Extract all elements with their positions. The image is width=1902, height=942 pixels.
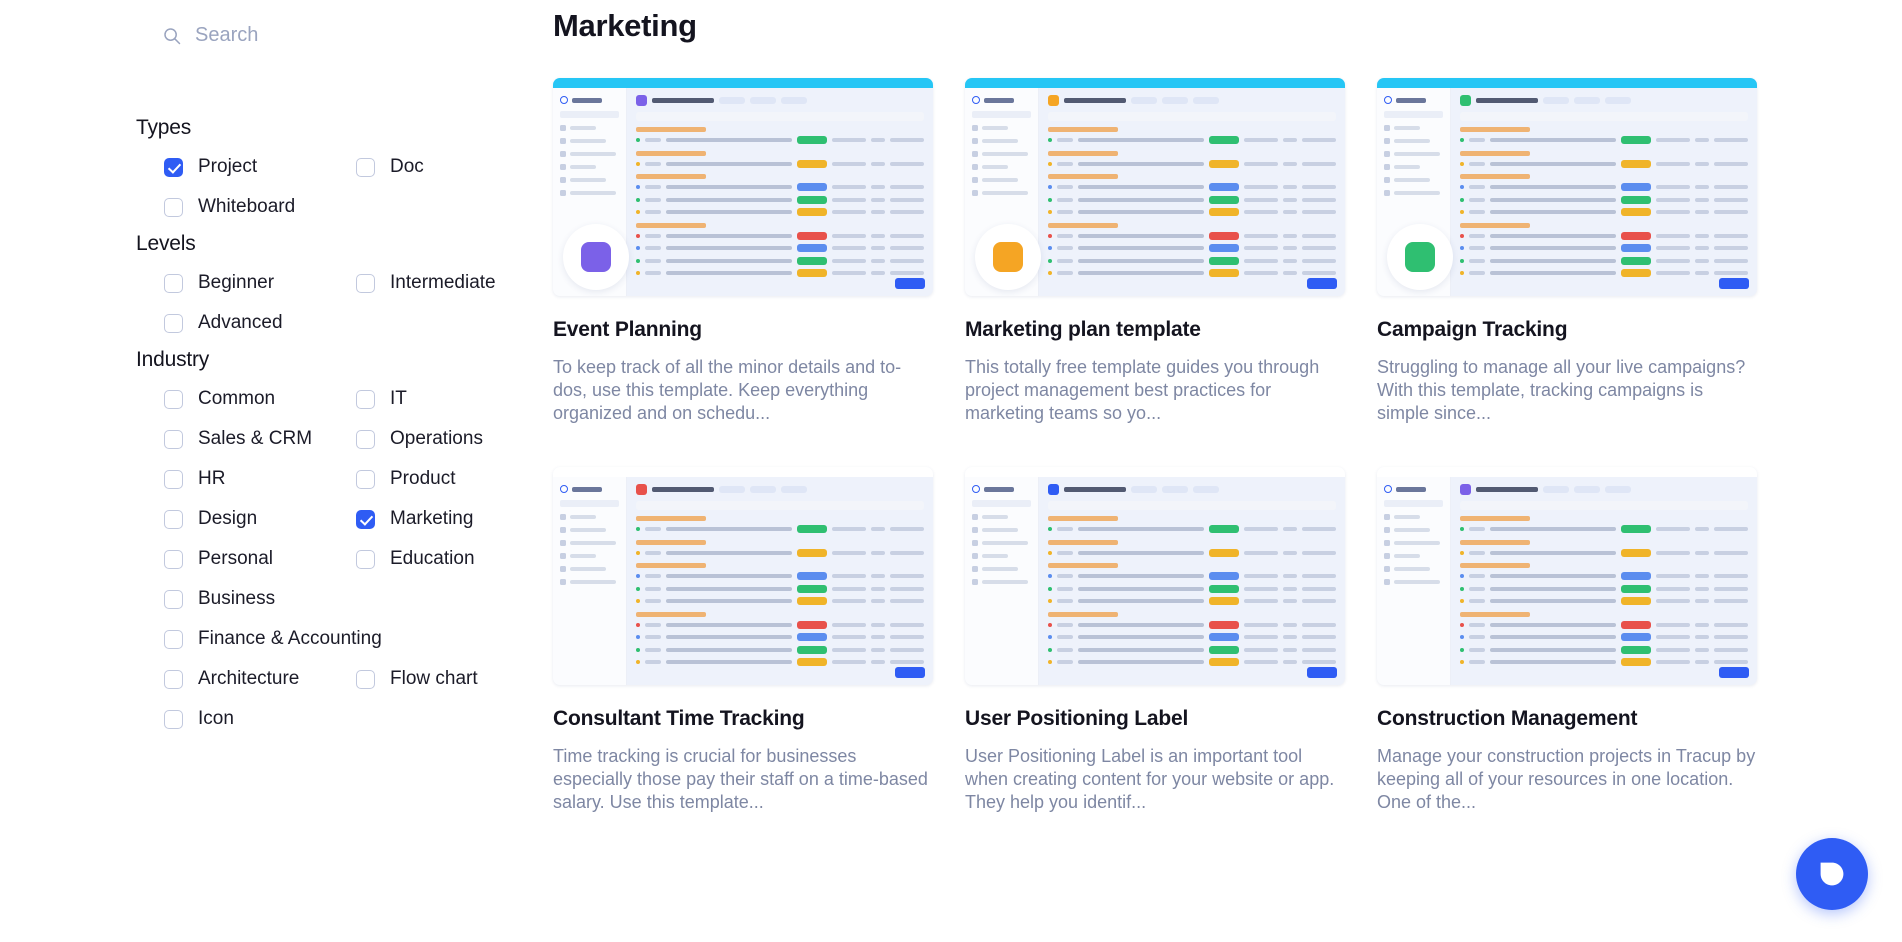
filter-option-label: Doc <box>390 156 424 178</box>
filter-option-personal[interactable]: Personal <box>164 548 356 570</box>
thumbnail-task-row <box>1048 645 1336 654</box>
search-bar[interactable] <box>163 24 455 47</box>
thumbnail-group-title <box>636 223 706 228</box>
thumbnail-app-logo <box>560 485 619 493</box>
thumbnail-task-group <box>636 174 924 217</box>
thumbnail-group-title <box>1460 612 1530 617</box>
thumbnail-task-row <box>1460 525 1748 534</box>
thumbnail-task-row <box>1460 548 1748 557</box>
thumbnail-app-logo <box>972 96 1031 104</box>
thumbnail-task-group <box>1460 516 1748 534</box>
thumbnail-task-row <box>1048 597 1336 606</box>
template-icon-glyph <box>1405 242 1435 272</box>
thumbnail-sidebar-item <box>560 579 619 585</box>
search-input[interactable] <box>195 24 455 47</box>
thumbnail-task-group <box>1460 563 1748 606</box>
filter-option-label: Architecture <box>198 668 299 690</box>
thumbnail-task-row <box>1460 584 1748 593</box>
card-thumbnail[interactable] <box>553 467 933 685</box>
thumbnail-sidebar-item <box>972 138 1031 144</box>
thumbnail-task-group <box>636 540 924 558</box>
thumbnail-group-title <box>1460 151 1530 156</box>
thumbnail-group-title <box>636 612 706 617</box>
checkbox-education[interactable] <box>356 550 375 569</box>
thumbnail-app-logo <box>560 96 619 104</box>
checkbox-design[interactable] <box>164 510 183 529</box>
thumbnail-sidebar-search <box>560 500 619 507</box>
thumbnail-task-group <box>1048 127 1336 145</box>
thumbnail-board-header <box>636 95 924 106</box>
thumbnail-sidebar-item <box>1384 190 1443 196</box>
thumbnail-app-body <box>553 477 933 685</box>
thumbnail-task-group <box>636 563 924 606</box>
thumbnail-sidebar-item <box>972 579 1031 585</box>
thumbnail-toolbar <box>1460 501 1748 510</box>
thumbnail-group-title <box>636 540 706 545</box>
checkbox-intermediate[interactable] <box>356 274 375 293</box>
thumbnail-primary-button <box>1307 278 1337 289</box>
thumbnail-sidebar-search <box>1384 111 1443 118</box>
thumbnail-group-title <box>1460 127 1530 132</box>
thumbnail-group-title <box>1048 563 1118 568</box>
thumbnail-task-row <box>1048 584 1336 593</box>
checkbox-hr[interactable] <box>164 470 183 489</box>
thumbnail-sidebar-item <box>1384 177 1443 183</box>
thumbnail-titlebar <box>1377 78 1757 88</box>
chat-support-button[interactable] <box>1796 838 1868 910</box>
thumbnail-task-row <box>1460 597 1748 606</box>
thumbnail-task-row <box>1460 183 1748 192</box>
card-description: This totally free template guides you th… <box>965 356 1345 425</box>
checkbox-doc[interactable] <box>356 158 375 177</box>
search-icon <box>163 27 181 45</box>
thumbnail-sidebar-item <box>972 177 1031 183</box>
thumbnail-board-header <box>1048 95 1336 106</box>
filter-option-hr[interactable]: HR <box>164 468 356 490</box>
thumbnail-sidebar-item <box>972 125 1031 131</box>
filter-option-label: HR <box>198 468 225 490</box>
thumbnail-sidebar-item <box>1384 566 1443 572</box>
thumbnail-task-group <box>1460 223 1748 278</box>
thumbnail-main-panel <box>1451 88 1757 296</box>
thumbnail-task-row <box>1048 633 1336 642</box>
card-description: Manage your construction projects in Tra… <box>1377 745 1757 814</box>
thumbnail-titlebar <box>965 78 1345 88</box>
thumbnail-sidebar-search <box>972 500 1031 507</box>
filter-option-label: Operations <box>390 428 483 450</box>
thumbnail-sidebar-item <box>1384 138 1443 144</box>
filter-option-whiteboard[interactable]: Whiteboard <box>164 196 356 218</box>
card-description: Struggling to manage all your live campa… <box>1377 356 1757 425</box>
card-description: Time tracking is crucial for businesses … <box>553 745 933 814</box>
thumbnail-group-title <box>636 127 706 132</box>
thumbnail-sidebar-item <box>560 514 619 520</box>
thumbnail-primary-button <box>1307 667 1337 678</box>
thumbnail-task-group <box>1460 127 1748 145</box>
filter-option-sales-crm[interactable]: Sales & CRM <box>164 428 356 450</box>
thumbnail-task-group <box>636 151 924 169</box>
thumbnail-group-title <box>1460 516 1530 521</box>
template-card[interactable]: Campaign TrackingStruggling to manage al… <box>1377 78 1757 425</box>
filter-option-label: Sales & CRM <box>198 428 312 450</box>
page-title: Marketing <box>553 8 697 44</box>
thumbnail-task-row <box>1460 645 1748 654</box>
thumbnail-toolbar <box>1460 112 1748 121</box>
filter-option-label: Product <box>390 468 455 490</box>
thumbnail-sidebar-item <box>1384 579 1443 585</box>
thumbnail-sidebar <box>1377 477 1451 685</box>
thumbnail-sidebar-item <box>560 164 619 170</box>
thumbnail-task-row <box>1048 269 1336 278</box>
thumbnail-task-row <box>1460 256 1748 265</box>
thumbnail-board-header <box>1460 95 1748 106</box>
template-icon-glyph <box>993 242 1023 272</box>
thumbnail-app-body <box>965 477 1345 685</box>
thumbnail-titlebar <box>1377 467 1757 477</box>
thumbnail-sidebar-item <box>972 514 1031 520</box>
thumbnail-task-group <box>636 612 924 667</box>
filter-option-architecture[interactable]: Architecture <box>164 668 356 690</box>
thumbnail-task-row <box>1048 208 1336 217</box>
filter-option-finance-accounting[interactable]: Finance & Accounting <box>164 628 356 650</box>
thumbnail-task-row <box>1460 633 1748 642</box>
checkbox-project[interactable] <box>164 158 183 177</box>
thumbnail-app-body <box>1377 477 1757 685</box>
template-icon-glyph <box>581 242 611 272</box>
checkbox-beginner[interactable] <box>164 274 183 293</box>
thumbnail-board-header <box>1460 484 1748 495</box>
filter-option-grid: BeginnerIntermediateAdvanced <box>136 272 556 334</box>
filter-option-operations[interactable]: Operations <box>356 428 548 450</box>
template-card[interactable]: Event PlanningTo keep track of all the m… <box>553 78 933 425</box>
thumbnail-sidebar-item <box>1384 527 1443 533</box>
filter-option-doc[interactable]: Doc <box>356 156 548 178</box>
thumbnail-task-group <box>1048 174 1336 217</box>
thumbnail-task-row <box>1048 244 1336 253</box>
thumbnail-sidebar-item <box>560 177 619 183</box>
filter-option-label: Personal <box>198 548 273 570</box>
thumbnail-task-row <box>636 658 924 667</box>
thumbnail-template-icon <box>563 224 629 290</box>
template-card-grid: Event PlanningTo keep track of all the m… <box>553 78 1757 814</box>
thumbnail-sidebar-item <box>560 566 619 572</box>
card-thumbnail[interactable] <box>553 78 933 296</box>
card-title: User Positioning Label <box>965 707 1345 731</box>
thumbnail-task-row <box>636 231 924 240</box>
checkbox-personal[interactable] <box>164 550 183 569</box>
template-card[interactable]: Construction ManagementManage your const… <box>1377 467 1757 814</box>
filter-group-title: Industry <box>136 348 556 372</box>
thumbnail-group-title <box>1048 151 1118 156</box>
thumbnail-sidebar-item <box>560 553 619 559</box>
card-description: To keep track of all the minor details a… <box>553 356 933 425</box>
thumbnail-app-logo <box>1384 485 1443 493</box>
filter-option-label: Common <box>198 388 275 410</box>
thumbnail-group-title <box>1048 516 1118 521</box>
thumbnail-task-row <box>636 256 924 265</box>
template-card[interactable]: Marketing plan templateThis totally free… <box>965 78 1345 425</box>
thumbnail-sidebar-item <box>1384 553 1443 559</box>
filter-option-label: Intermediate <box>390 272 496 294</box>
filter-group-levels: LevelsBeginnerIntermediateAdvanced <box>136 232 556 334</box>
filter-option-label: Icon <box>198 708 234 730</box>
filter-group-industry: IndustryCommonITSales & CRMOperationsHRP… <box>136 348 556 730</box>
checkbox-flow-chart[interactable] <box>356 670 375 689</box>
thumbnail-sidebar-item <box>560 138 619 144</box>
thumbnail-task-row <box>636 244 924 253</box>
thumbnail-group-title <box>1460 563 1530 568</box>
thumbnail-task-row <box>1048 548 1336 557</box>
filter-option-icon[interactable]: Icon <box>164 708 356 730</box>
thumbnail-task-row <box>636 584 924 593</box>
thumbnail-sidebar-item <box>1384 514 1443 520</box>
card-thumbnail[interactable] <box>1377 467 1757 685</box>
thumbnail-titlebar <box>553 78 933 88</box>
thumbnail-primary-button <box>895 278 925 289</box>
filter-option-it[interactable]: IT <box>356 388 548 410</box>
thumbnail-sidebar-item <box>560 125 619 131</box>
card-description: User Positioning Label is an important t… <box>965 745 1345 814</box>
thumbnail-main-panel <box>1039 88 1345 296</box>
checkbox-common[interactable] <box>164 390 183 409</box>
thumbnail-sidebar-search <box>972 111 1031 118</box>
thumbnail-sidebar-item <box>972 540 1031 546</box>
thumbnail-task-group <box>1460 612 1748 667</box>
checkbox-product[interactable] <box>356 470 375 489</box>
filter-option-label: Design <box>198 508 257 530</box>
thumbnail-group-title <box>1048 540 1118 545</box>
thumbnail-primary-button <box>1719 278 1749 289</box>
thumbnail-task-row <box>636 548 924 557</box>
thumbnail-sidebar-item <box>972 151 1031 157</box>
thumbnail-main-panel <box>627 88 933 296</box>
checkbox-operations[interactable] <box>356 430 375 449</box>
checkbox-architecture[interactable] <box>164 670 183 689</box>
filter-sidebar: TypesProjectDocWhiteboardLevelsBeginnerI… <box>136 116 556 744</box>
filter-option-product[interactable]: Product <box>356 468 548 490</box>
thumbnail-board-header <box>636 484 924 495</box>
thumbnail-main-panel <box>1039 477 1345 685</box>
thumbnail-toolbar <box>636 501 924 510</box>
template-card[interactable]: User Positioning LabelUser Positioning L… <box>965 467 1345 814</box>
filter-option-label: IT <box>390 388 407 410</box>
thumbnail-task-group <box>1048 151 1336 169</box>
template-card[interactable]: Consultant Time TrackingTime tracking is… <box>553 467 933 814</box>
thumbnail-task-row <box>1460 658 1748 667</box>
thumbnail-task-group <box>1460 540 1748 558</box>
thumbnail-task-group <box>636 516 924 534</box>
thumbnail-group-title <box>1460 540 1530 545</box>
thumbnail-task-row <box>636 633 924 642</box>
thumbnail-task-row <box>1048 256 1336 265</box>
thumbnail-task-row <box>1460 572 1748 581</box>
filter-option-intermediate[interactable]: Intermediate <box>356 272 548 294</box>
checkbox-finance-accounting[interactable] <box>164 630 183 649</box>
thumbnail-sidebar <box>553 477 627 685</box>
filter-option-common[interactable]: Common <box>164 388 356 410</box>
thumbnail-group-title <box>1048 223 1118 228</box>
checkbox-sales-crm[interactable] <box>164 430 183 449</box>
thumbnail-task-row <box>1460 195 1748 204</box>
thumbnail-task-group <box>1460 151 1748 169</box>
thumbnail-task-row <box>1460 136 1748 145</box>
thumbnail-task-group <box>636 223 924 278</box>
thumbnail-task-row <box>1048 183 1336 192</box>
filter-option-label: Flow chart <box>390 668 478 690</box>
thumbnail-main-panel <box>1451 477 1757 685</box>
thumbnail-task-row <box>636 269 924 278</box>
thumbnail-group-title <box>1460 174 1530 179</box>
thumbnail-task-group <box>1460 174 1748 217</box>
filter-option-label: Business <box>198 588 275 610</box>
template-gallery-page: Marketing TypesProjectDocWhiteboardLevel… <box>0 0 1902 942</box>
thumbnail-template-icon <box>975 224 1041 290</box>
thumbnail-sidebar-search <box>560 111 619 118</box>
thumbnail-task-row <box>1048 658 1336 667</box>
thumbnail-task-row <box>1048 159 1336 168</box>
thumbnail-task-row <box>1048 195 1336 204</box>
thumbnail-task-row <box>1460 159 1748 168</box>
filter-option-design[interactable]: Design <box>164 508 356 530</box>
thumbnail-task-group <box>1048 516 1336 534</box>
thumbnail-sidebar-item <box>972 527 1031 533</box>
thumbnail-task-group <box>1048 223 1336 278</box>
filter-option-label: Education <box>390 548 475 570</box>
filter-option-flow-chart[interactable]: Flow chart <box>356 668 548 690</box>
thumbnail-primary-button <box>895 667 925 678</box>
card-title: Consultant Time Tracking <box>553 707 933 731</box>
filter-option-grid: CommonITSales & CRMOperationsHRProductDe… <box>136 388 556 730</box>
filter-option-business[interactable]: Business <box>164 588 356 610</box>
card-title: Marketing plan template <box>965 318 1345 342</box>
thumbnail-task-group <box>1048 540 1336 558</box>
card-thumbnail[interactable] <box>1377 78 1757 296</box>
filter-group-title: Types <box>136 116 556 140</box>
thumbnail-task-row <box>1460 269 1748 278</box>
filter-option-beginner[interactable]: Beginner <box>164 272 356 294</box>
thumbnail-task-row <box>1460 620 1748 629</box>
thumbnail-task-row <box>636 525 924 534</box>
filter-option-label: Marketing <box>390 508 473 530</box>
filter-group-types: TypesProjectDocWhiteboard <box>136 116 556 218</box>
thumbnail-group-title <box>636 516 706 521</box>
filter-option-education[interactable]: Education <box>356 548 548 570</box>
thumbnail-task-row <box>636 620 924 629</box>
filter-option-label: Finance & Accounting <box>198 628 382 650</box>
filter-option-grid: ProjectDocWhiteboard <box>136 156 556 218</box>
card-title: Construction Management <box>1377 707 1757 731</box>
thumbnail-sidebar <box>965 477 1039 685</box>
thumbnail-task-row <box>636 645 924 654</box>
thumbnail-task-row <box>1460 231 1748 240</box>
thumbnail-task-row <box>636 597 924 606</box>
thumbnail-task-row <box>1048 572 1336 581</box>
checkbox-whiteboard[interactable] <box>164 198 183 217</box>
thumbnail-group-title <box>636 174 706 179</box>
thumbnail-group-title <box>1048 174 1118 179</box>
thumbnail-task-row <box>636 159 924 168</box>
thumbnail-group-title <box>636 151 706 156</box>
filter-option-advanced[interactable]: Advanced <box>164 312 356 334</box>
thumbnail-task-row <box>1048 136 1336 145</box>
thumbnail-sidebar-item <box>972 164 1031 170</box>
thumbnail-task-row <box>1460 208 1748 217</box>
thumbnail-group-title <box>636 563 706 568</box>
thumbnail-sidebar-item <box>560 190 619 196</box>
checkbox-business[interactable] <box>164 590 183 609</box>
thumbnail-task-row <box>1460 244 1748 253</box>
thumbnail-task-row <box>636 195 924 204</box>
filter-option-label: Whiteboard <box>198 196 295 218</box>
thumbnail-primary-button <box>1719 667 1749 678</box>
filter-option-label: Project <box>198 156 257 178</box>
thumbnail-group-title <box>1460 223 1530 228</box>
card-title: Event Planning <box>553 318 933 342</box>
thumbnail-task-group <box>1048 612 1336 667</box>
thumbnail-main-panel <box>627 477 933 685</box>
filter-group-title: Levels <box>136 232 556 256</box>
thumbnail-sidebar-item <box>972 553 1031 559</box>
checkbox-it[interactable] <box>356 390 375 409</box>
thumbnail-toolbar <box>1048 112 1336 121</box>
thumbnail-task-group <box>1048 563 1336 606</box>
thumbnail-sidebar-item <box>560 151 619 157</box>
thumbnail-task-row <box>636 136 924 145</box>
filter-option-marketing[interactable]: Marketing <box>356 508 548 530</box>
thumbnail-sidebar-search <box>1384 500 1443 507</box>
thumbnail-titlebar <box>553 467 933 477</box>
thumbnail-toolbar <box>636 112 924 121</box>
thumbnail-group-title <box>1048 127 1118 132</box>
filter-option-label: Beginner <box>198 272 274 294</box>
thumbnail-task-row <box>636 208 924 217</box>
thumbnail-board-header <box>1048 484 1336 495</box>
checkbox-icon[interactable] <box>164 710 183 729</box>
thumbnail-sidebar-item <box>560 540 619 546</box>
card-thumbnail[interactable] <box>965 78 1345 296</box>
thumbnail-toolbar <box>1048 501 1336 510</box>
thumbnail-task-row <box>1048 620 1336 629</box>
thumbnail-task-row <box>636 183 924 192</box>
filter-option-label: Advanced <box>198 312 283 334</box>
card-thumbnail[interactable] <box>965 467 1345 685</box>
thumbnail-group-title <box>1048 612 1118 617</box>
thumbnail-task-row <box>1048 231 1336 240</box>
thumbnail-sidebar-item <box>1384 125 1443 131</box>
thumbnail-task-row <box>1048 525 1336 534</box>
card-title: Campaign Tracking <box>1377 318 1757 342</box>
chat-bubble-icon <box>1818 860 1846 888</box>
thumbnail-sidebar-item <box>560 527 619 533</box>
thumbnail-titlebar <box>965 467 1345 477</box>
checkbox-marketing[interactable] <box>356 510 375 529</box>
thumbnail-task-row <box>636 572 924 581</box>
thumbnail-app-logo <box>972 485 1031 493</box>
thumbnail-sidebar-item <box>1384 164 1443 170</box>
thumbnail-task-group <box>636 127 924 145</box>
thumbnail-sidebar-item <box>972 566 1031 572</box>
thumbnail-template-icon <box>1387 224 1453 290</box>
thumbnail-app-logo <box>1384 96 1443 104</box>
thumbnail-sidebar-item <box>972 190 1031 196</box>
thumbnail-sidebar-item <box>1384 540 1443 546</box>
checkbox-advanced[interactable] <box>164 314 183 333</box>
thumbnail-sidebar-item <box>1384 151 1443 157</box>
filter-option-project[interactable]: Project <box>164 156 356 178</box>
